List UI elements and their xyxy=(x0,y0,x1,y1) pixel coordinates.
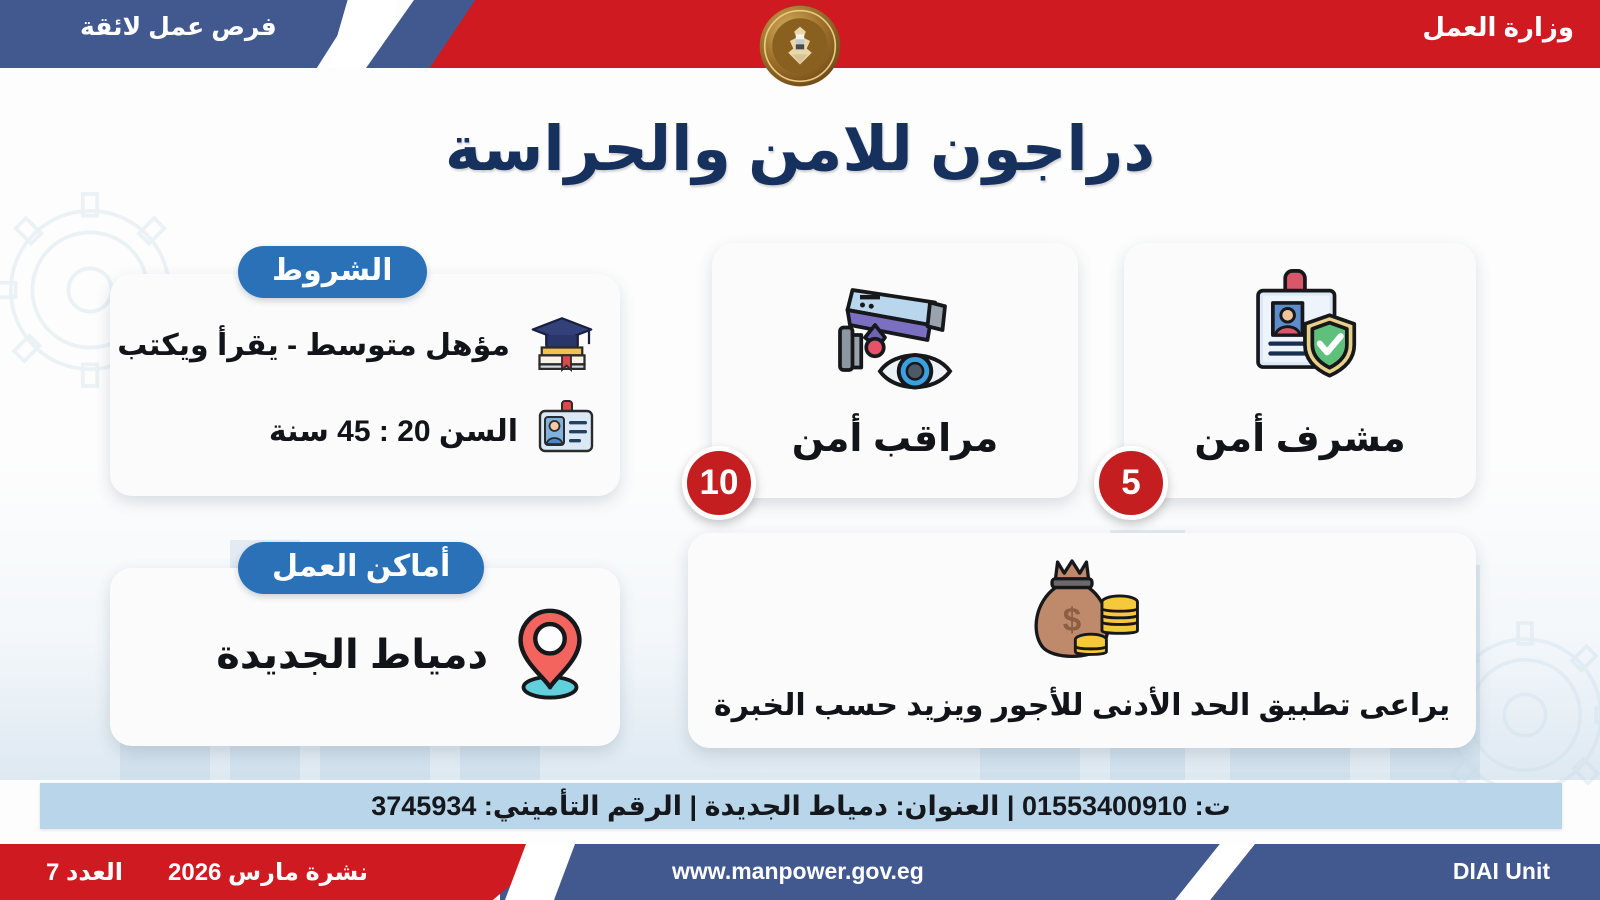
banner-tagline: فرص عمل لائقة xyxy=(80,12,277,42)
cctv-camera-eye-icon xyxy=(820,265,970,410)
ministry-of-labour-seal-icon xyxy=(758,4,842,88)
graduation-cap-book-icon xyxy=(526,307,598,384)
job-card-security-monitor: مراقب أمن 10 xyxy=(712,243,1078,498)
contact-line: ت: 01553400910 | العنوان: دمياط الجديدة … xyxy=(371,791,1231,822)
job-count-badge: 5 xyxy=(1094,446,1168,520)
conditions-badge: الشروط xyxy=(238,246,427,298)
id-badge-shield-icon xyxy=(1226,265,1374,410)
page-title: دراجون للامن والحراسة xyxy=(0,112,1600,185)
contact-strip: ت: 01553400910 | العنوان: دمياط الجديدة … xyxy=(40,783,1562,829)
condition-row: مؤهل متوسط - يقرأ ويكتب xyxy=(110,302,620,388)
job-title: مراقب أمن xyxy=(792,416,999,461)
ministry-label: وزارة العمل xyxy=(1422,12,1574,43)
infographic-page: وزارة العمل فرص عمل لائقة دراجون للامن xyxy=(0,0,1600,900)
job-count-badge: 10 xyxy=(682,446,756,520)
footer-bulletin-date: نشرة مارس 2026 xyxy=(168,858,368,887)
locations-card: دمياط الجديدة xyxy=(110,568,620,746)
salary-text: يراعى تطبيق الحد الأدنى للأجور ويزيد حسب… xyxy=(714,688,1450,723)
job-card-security-supervisor: مشرف أمن 5 xyxy=(1124,243,1476,498)
job-title: مشرف أمن xyxy=(1194,416,1405,461)
condition-text: السن 20 : 45 سنة xyxy=(269,414,518,449)
footer-issue-number: العدد 7 xyxy=(46,858,123,887)
footer-website[interactable]: www.manpower.gov.eg xyxy=(672,858,924,885)
salary-card: $ يراعى تطبيق الحد الأدنى للأجور ويزيد ح… xyxy=(688,533,1476,748)
location-text: دمياط الجديدة xyxy=(216,632,488,678)
id-card-icon xyxy=(534,397,598,466)
footer-blue-band xyxy=(500,844,1600,900)
map-pin-icon xyxy=(502,602,598,707)
footer-unit-label: DIAI Unit xyxy=(1453,858,1550,885)
condition-text: مؤهل متوسط - يقرأ ويكتب xyxy=(117,328,510,363)
conditions-card: مؤهل متوسط - يقرأ ويكتب السن 20 : 45 سنة xyxy=(110,274,620,496)
locations-badge: أماكن العمل xyxy=(238,542,484,594)
money-bag-coins-icon: $ xyxy=(1014,551,1150,678)
footer-bar: العدد 7 نشرة مارس 2026 www.manpower.gov.… xyxy=(0,844,1600,900)
svg-text:$: $ xyxy=(1063,602,1082,639)
condition-row: السن 20 : 45 سنة xyxy=(110,388,620,474)
